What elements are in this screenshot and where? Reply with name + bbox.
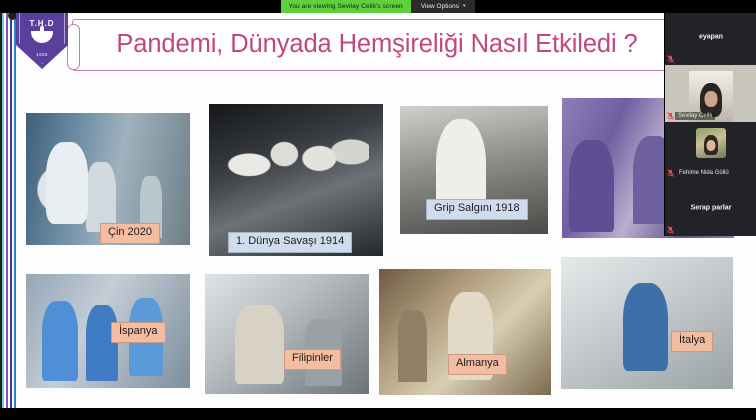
participant-name-4: Serap parlar (665, 204, 756, 211)
mic-muted-icon (667, 112, 674, 120)
logo-year: 1933 (16, 52, 68, 57)
photo-caption-spain: İspanya (111, 322, 166, 343)
zoom-bottom-bar (0, 408, 756, 420)
photo-caption-germany: Almanya (448, 354, 507, 375)
participant-name-1: eyapan (665, 33, 756, 40)
slide-accent-bar-2 (6, 13, 8, 408)
photo-philippines (205, 274, 369, 394)
thd-logo: T.H.D 1933 (16, 13, 68, 71)
zoom-top-bar: You are viewing Sevilay Celik's screen V… (0, 0, 756, 13)
shield-icon: T.H.D 1933 (16, 13, 68, 69)
participant-tile-3[interactable]: Fehime Nida Güllü (665, 122, 756, 179)
slide-accent-bar-1 (2, 13, 4, 408)
slide-title-banner: Pandemi, Dünyada Hemşireliği Nasıl Etkil… (72, 19, 682, 71)
mic-muted-icon (667, 226, 674, 234)
slide-accent-bar-4 (14, 13, 16, 408)
photo-caption-ww1: 1. Dünya Savaşı 1914 (228, 232, 352, 253)
participant-tile-2[interactable]: Sevilay Celik (665, 65, 756, 122)
photo-caption-italy: İtalya (671, 331, 713, 352)
photo-card-china: Çin 2020 (26, 113, 190, 245)
logo-dot-dark-icon (8, 13, 17, 20)
view-options-button[interactable]: View Options ▾ (411, 0, 476, 13)
photo-caption-flu: Grip Salgını 1918 (426, 199, 528, 220)
shared-slide: T.H.D 1933 Pandemi, Dünyada Hemşireliği … (0, 13, 756, 408)
photo-card-italy: İtalya (561, 257, 733, 389)
slide-accent-bar-3 (10, 13, 12, 408)
photo-caption-china: Çin 2020 (100, 223, 160, 244)
screen-share-notice: You are viewing Sevilay Celik's screen (281, 0, 411, 13)
participant-tile-4[interactable]: Serap parlar (665, 179, 756, 236)
participant-name-2: Sevilay Celik (675, 112, 715, 120)
photo-caption-philippines: Filipinler (284, 349, 341, 370)
photo-italy (561, 257, 733, 389)
participant-filmstrip[interactable]: eyapan Sevilay Celik Fehime Nida Güllü S… (664, 8, 756, 236)
page-title: Pandemi, Dünyada Hemşireliği Nasıl Etkil… (73, 30, 681, 59)
chevron-down-icon: ▾ (463, 0, 466, 13)
photo-card-flu: Grip Salgını 1918 (400, 106, 548, 234)
mic-muted-icon (667, 55, 674, 63)
photo-germany (379, 269, 551, 395)
window-left-edge (0, 13, 2, 408)
photo-card-philippines: Filipinler (205, 274, 369, 394)
photo-card-ww1: 1. Dünya Savaşı 1914 (209, 104, 383, 256)
mic-muted-icon (667, 169, 674, 177)
photo-card-germany: Almanya (379, 269, 551, 395)
photo-card-spain: İspanya (26, 274, 190, 388)
view-options-label: View Options (421, 0, 459, 13)
avatar (696, 128, 726, 158)
participant-name-3: Fehime Nida Güllü (676, 169, 732, 177)
slide-canvas: T.H.D 1933 Pandemi, Dünyada Hemşireliği … (0, 13, 756, 408)
participant-tile-1[interactable]: eyapan (665, 8, 756, 65)
screen-share-window: You are viewing Sevilay Celik's screen V… (0, 0, 756, 420)
